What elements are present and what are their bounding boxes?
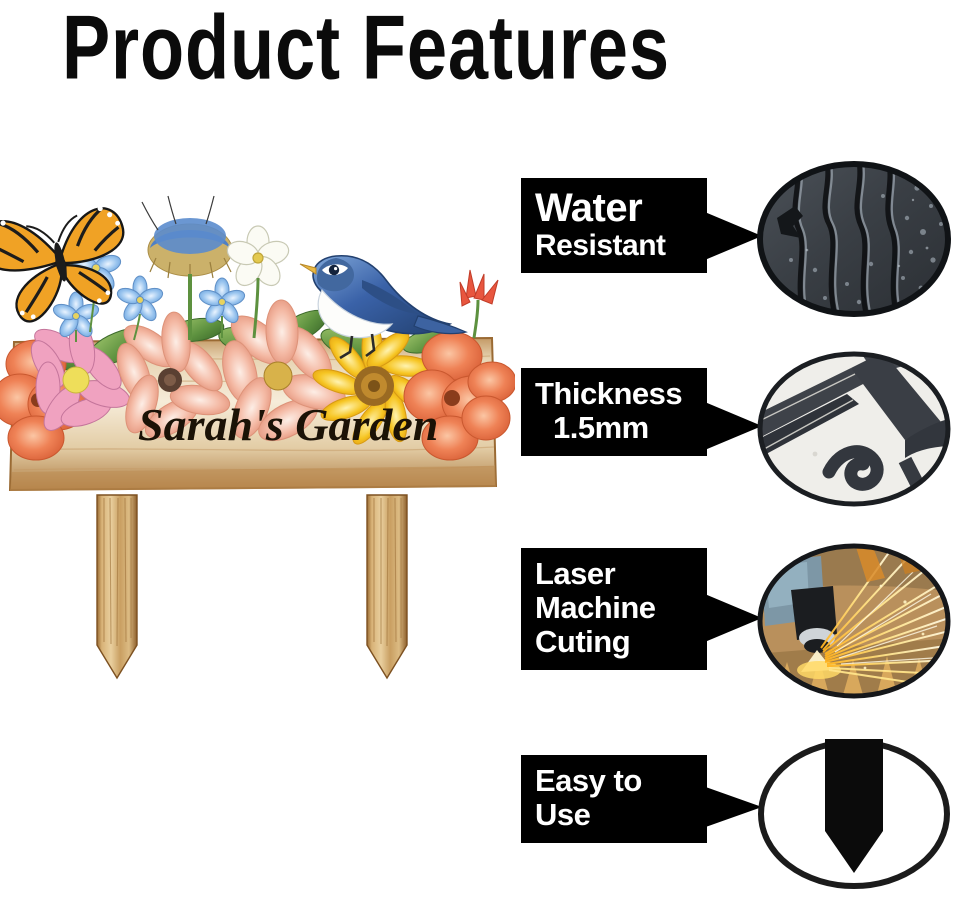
label-box-laser-machine-cutting: Laser Machine Cuting — [521, 548, 707, 670]
feature-label-line-1: Resistant — [535, 229, 693, 262]
label-box-water-resistant: Water Resistant — [521, 178, 707, 273]
feature-thickness: Thickness 1.5mm — [515, 350, 954, 515]
feature-label-line-0: Laser — [535, 557, 693, 591]
feature-easy-to-use: Easy to Use — [515, 733, 954, 898]
connector-arrow-easy-to-use — [700, 785, 762, 829]
feature-label-line-1: Use — [535, 798, 693, 832]
red-spiky-flower — [460, 270, 498, 338]
feature-label-line-0: Water — [535, 187, 693, 229]
page-title: Product Features — [62, 2, 670, 93]
media-laser-cutting-oval — [755, 542, 953, 702]
sign-stakes — [97, 495, 407, 678]
connector-arrow-thickness — [700, 400, 762, 452]
connector-arrow-water-resistant — [700, 210, 762, 262]
feature-list: Water Resistant — [515, 155, 954, 900]
feature-laser-machine-cutting: Laser Machine Cuting — [515, 540, 954, 705]
media-ground-stake-oval — [755, 735, 953, 895]
connector-arrow-laser-machine-cutting — [700, 592, 762, 644]
product-features-page: Product Features — [0, 0, 954, 900]
coral-poppy-far-right — [462, 362, 515, 440]
media-metal-thickness-oval — [755, 350, 953, 510]
sign-text-svg: Sarah's Garden — [138, 399, 438, 450]
feature-label-line-2: Cuting — [535, 625, 693, 659]
feature-water-resistant: Water Resistant — [515, 160, 954, 325]
label-box-thickness: Thickness 1.5mm — [521, 368, 707, 456]
feature-label-line-1: Machine — [535, 591, 693, 625]
product-illustration: Sarah's Garden — [0, 150, 515, 850]
feature-label-line-1: 1.5mm — [535, 411, 693, 445]
media-water-droplets-oval — [755, 160, 953, 320]
feature-label-line-0: Thickness — [535, 377, 693, 411]
feature-label-line-0: Easy to — [535, 764, 693, 798]
label-box-easy-to-use: Easy to Use — [521, 755, 707, 843]
